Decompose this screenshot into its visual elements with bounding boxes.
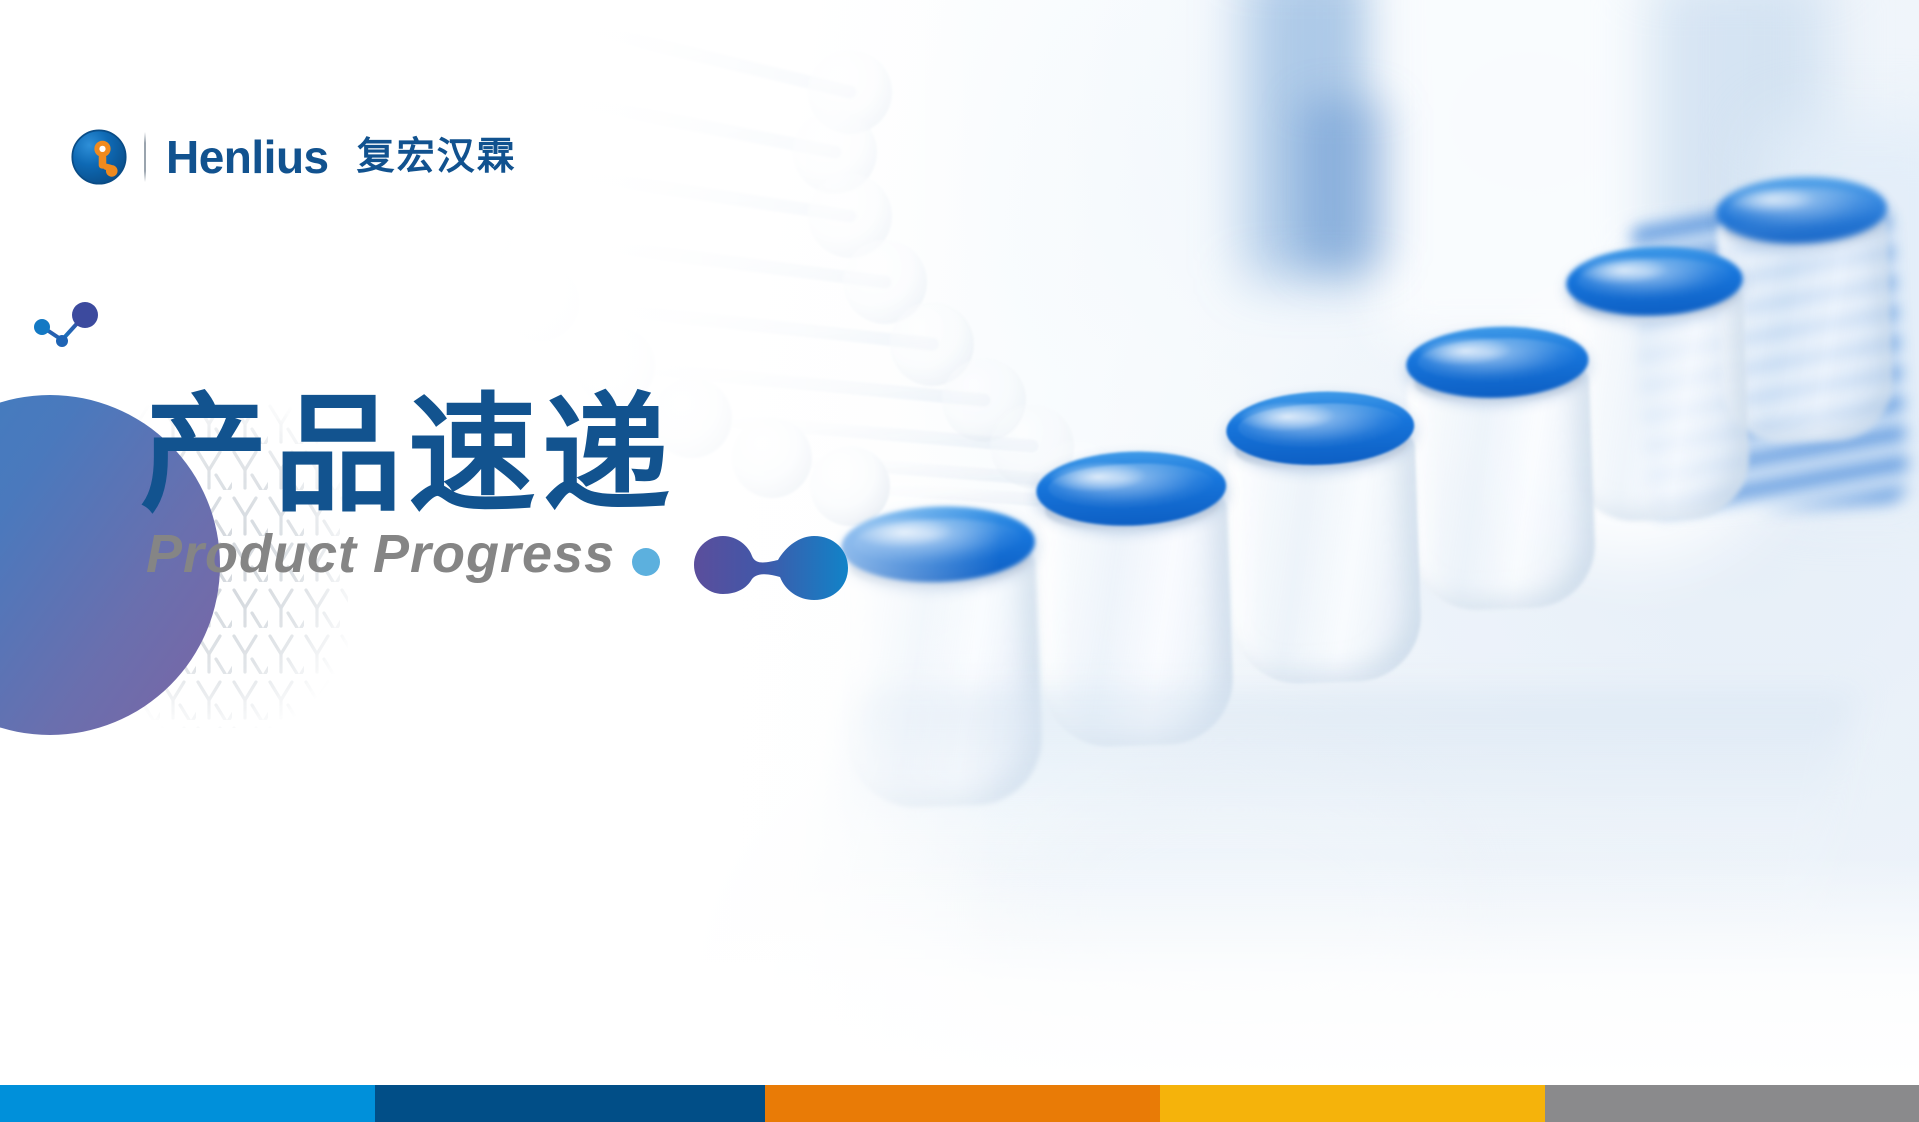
color-bar-segment-light-blue bbox=[0, 1085, 375, 1122]
color-bar-segment-dark-blue bbox=[375, 1085, 765, 1122]
brand-logo[interactable]: Henlius 复宏汉霖 bbox=[70, 126, 517, 188]
bottom-color-bar bbox=[0, 1085, 1919, 1122]
logo-divider bbox=[144, 132, 146, 182]
slide-title-chinese: 产品速递 bbox=[140, 380, 676, 531]
color-bar-segment-amber bbox=[1160, 1085, 1545, 1122]
slide-subtitle-english: Product Progress bbox=[146, 523, 615, 585]
accent-dot-icon bbox=[632, 548, 660, 576]
logo-wordmark: Henlius bbox=[166, 134, 329, 180]
color-bar-segment-orange bbox=[765, 1085, 1160, 1122]
mini-molecule-icon bbox=[22, 300, 112, 360]
cover-slide: Henlius 复宏汉霖 产品速递 Product Progress bbox=[0, 0, 1919, 1122]
accent-metaball-icon bbox=[690, 522, 850, 602]
henlius-molecule-mark-icon bbox=[70, 128, 128, 186]
color-bar-segment-gray bbox=[1545, 1085, 1919, 1122]
bottom-white-fade bbox=[0, 855, 1919, 1085]
logo-chinese-name: 复宏汉霖 bbox=[357, 138, 517, 176]
